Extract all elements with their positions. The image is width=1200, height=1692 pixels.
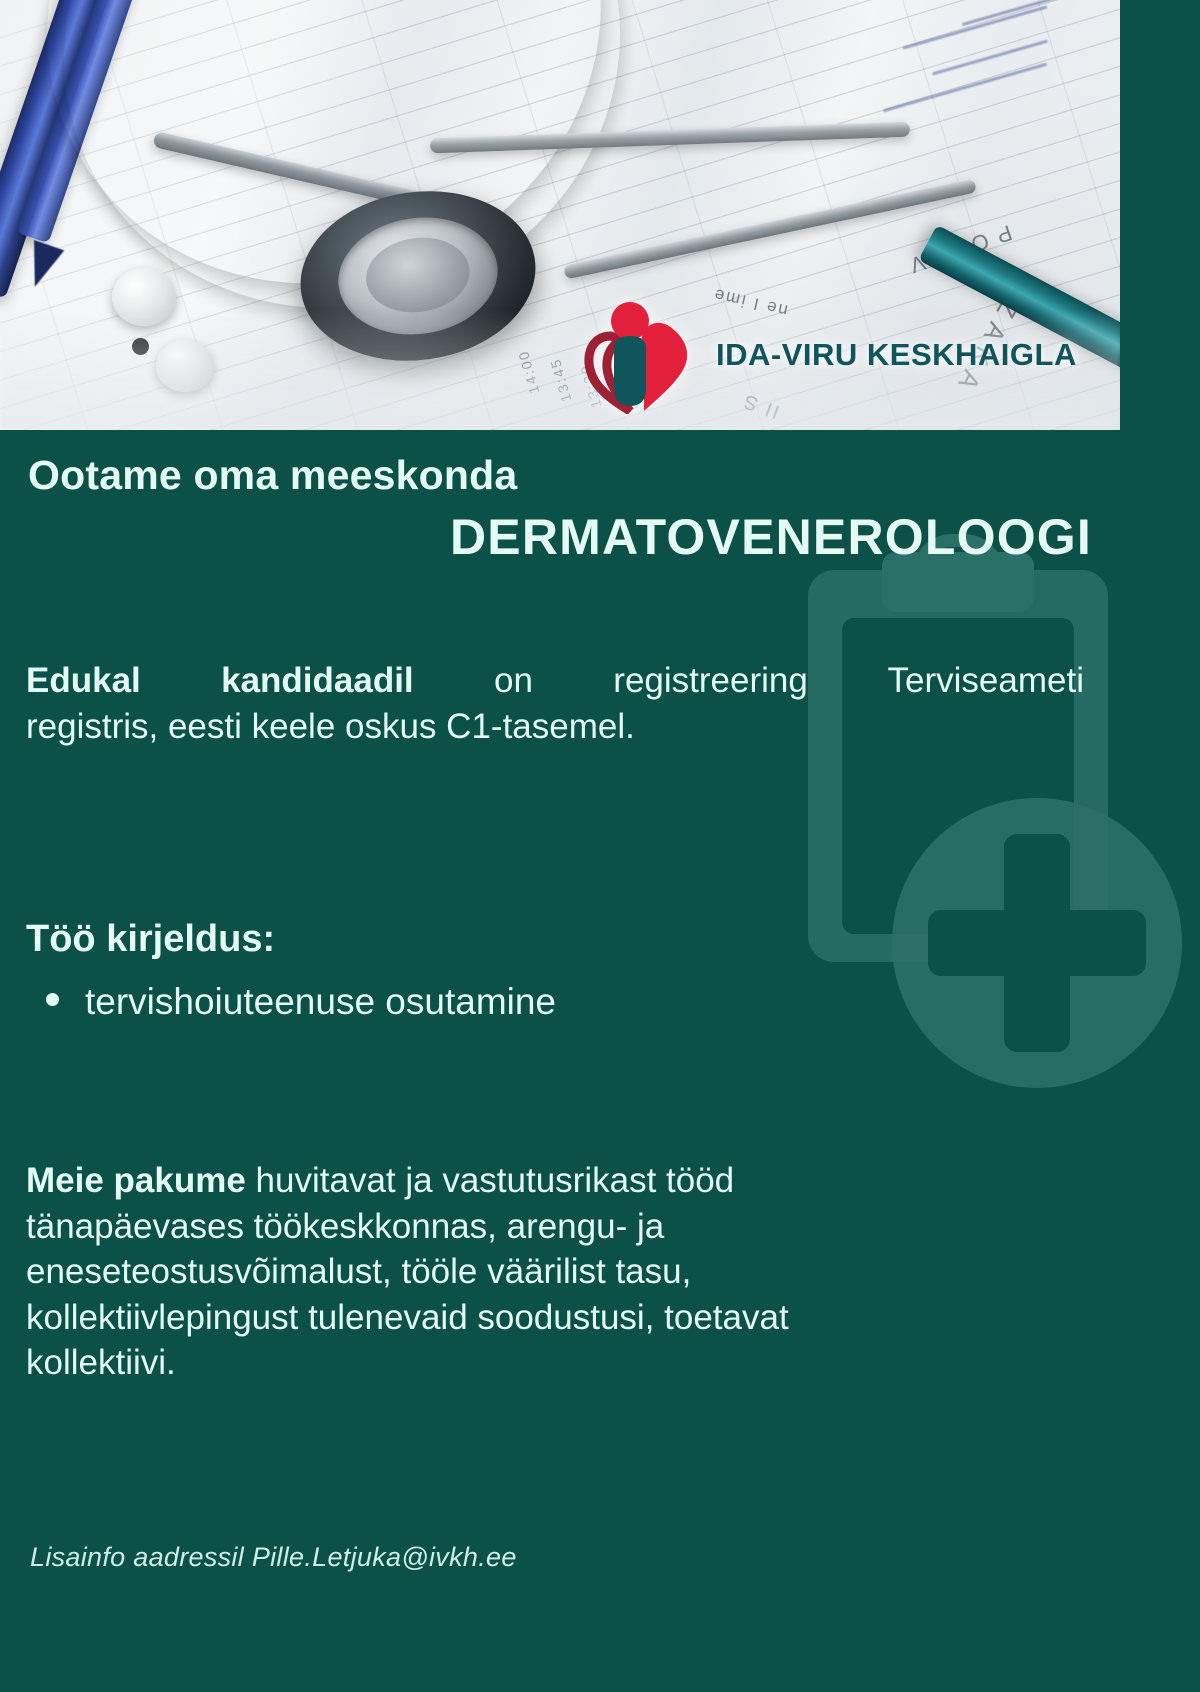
description-list: tervishoiuteenuse osutamine bbox=[46, 978, 556, 1026]
offer-paragraph: Meie pakume huvitavat ja vastutusrikast … bbox=[26, 1158, 1066, 1386]
offer-line-1: huvitavat ja vastutusrikast tööd bbox=[256, 1161, 735, 1200]
description-heading: Töö kirjeldus: bbox=[26, 918, 275, 961]
list-item: tervishoiuteenuse osutamine bbox=[46, 978, 556, 1026]
job-advert-poster: P O Z I V Z A K A ne I ime 14:00 13:45 1… bbox=[0, 0, 1200, 1692]
offer-line-5: kollektiivi. bbox=[26, 1343, 176, 1382]
page-title: DERMATOVENEROLOOGI bbox=[0, 508, 1092, 566]
contact-note: Lisainfo aadressil Pille.Letjuka@ivkh.ee bbox=[30, 1542, 517, 1573]
requirements-rest-line1: on registreering Terviseameti bbox=[494, 661, 1084, 700]
offer-line-4: kollektiivlepingust tulenevaid soodustus… bbox=[26, 1298, 789, 1337]
offer-bold-prefix: Meie pakume bbox=[26, 1161, 246, 1200]
content-area: Ootame oma meeskonda DERMATOVENEROLOOGI … bbox=[0, 430, 1200, 1692]
offer-line-2: tänapäevases töökeskkonnas, arengu- ja bbox=[26, 1207, 664, 1246]
requirements-paragraph: Edukal kandidaadil on registreering Terv… bbox=[26, 658, 1084, 749]
bullet-dot-icon bbox=[46, 993, 59, 1006]
lead-text: Ootame oma meeskonda bbox=[28, 452, 517, 499]
requirements-line2: registris, eesti keele oskus C1-tasemel. bbox=[26, 707, 635, 746]
list-item-label: tervishoiuteenuse osutamine bbox=[85, 978, 556, 1026]
requirements-bold-prefix: Edukal kandidaadil bbox=[26, 661, 414, 700]
medical-cross-watermark-horizontal bbox=[928, 910, 1146, 976]
hero-photo: P O Z I V Z A K A ne I ime 14:00 13:45 1… bbox=[0, 0, 1120, 430]
heart-person-icon bbox=[578, 296, 698, 414]
offer-line-3: eneseteostusvõimalust, tööle väärilist t… bbox=[26, 1252, 691, 1291]
organization-logo: IDA-VIRU KESKHAIGLA bbox=[578, 296, 1077, 414]
organization-name: IDA-VIRU KESKHAIGLA bbox=[716, 337, 1077, 373]
